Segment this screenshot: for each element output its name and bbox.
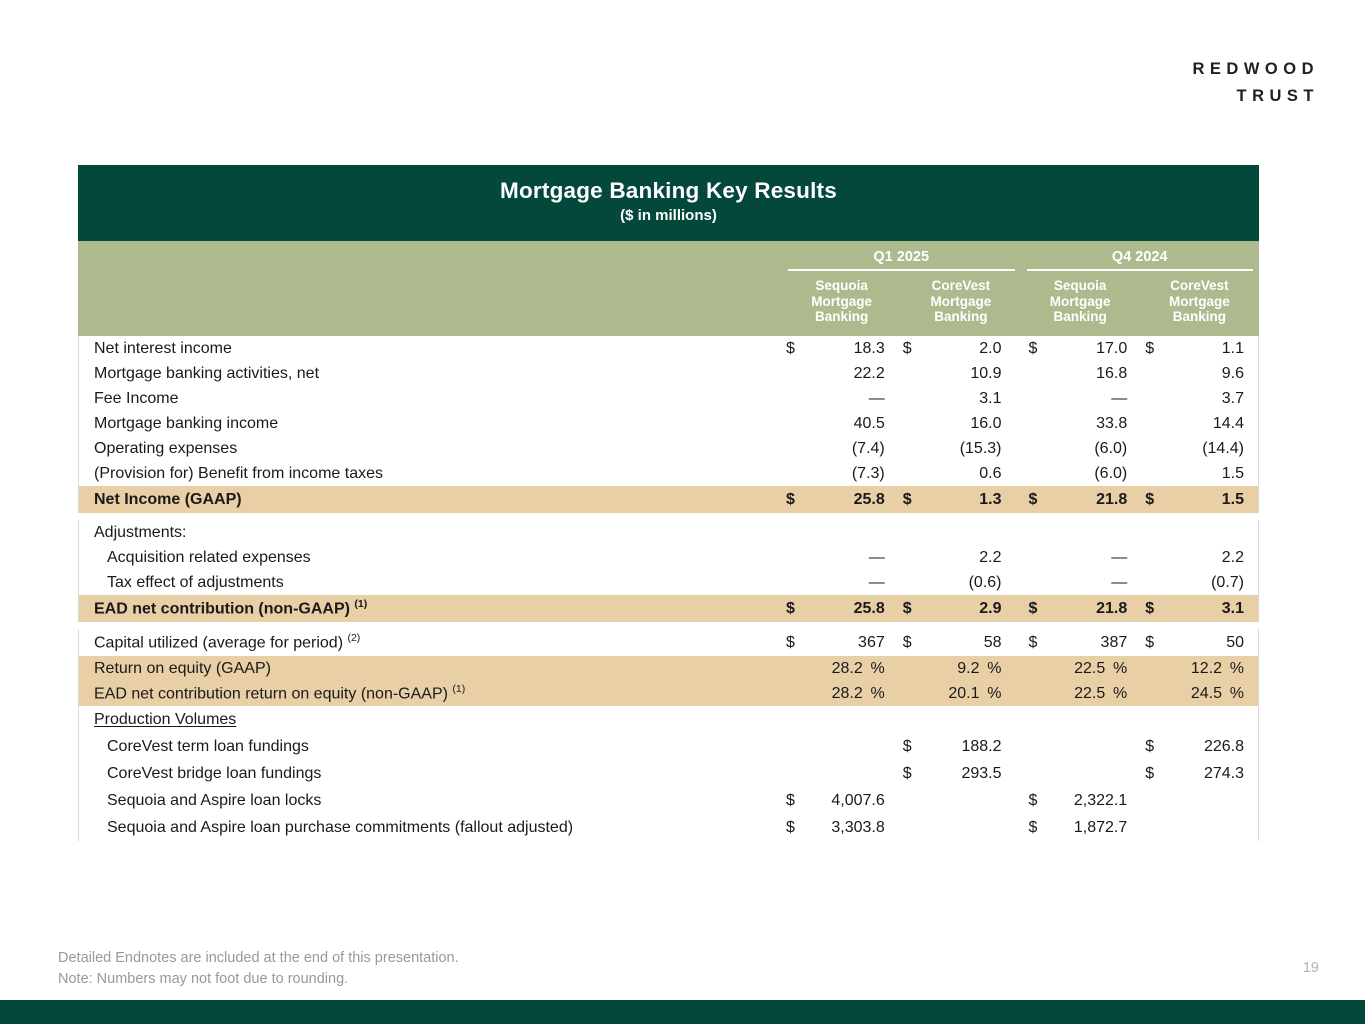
cell-q1-sequoia: $4,007.6	[782, 787, 899, 814]
table-row-capital-utilized: Capital utilized (average for period) (2…	[79, 629, 1258, 656]
cell-q4-sequoia	[1025, 760, 1142, 787]
mortgage-banking-table: Mortgage Banking Key Results ($ in milli…	[78, 165, 1259, 841]
income-statement-block: Net interest income $18.3 $2.0 $17.0 $1.…	[78, 336, 1259, 513]
cell-q4-corevest: $1.1	[1141, 336, 1258, 361]
table-header-band: Q1 2025 Sequoia Mortgage Banking CoreVes…	[78, 241, 1259, 336]
row-label: Mortgage banking activities, net	[79, 365, 782, 383]
cell-q1-corevest	[899, 787, 1016, 814]
cell-q1-corevest: $58	[899, 629, 1016, 656]
table-subtitle: ($ in millions)	[78, 205, 1259, 227]
table-row: Acquisition related expenses — 2.2 — 2.2	[79, 545, 1258, 570]
cell-q4-sequoia: (6.0)	[1025, 461, 1142, 486]
table-row: CoreVest bridge loan fundings $293.5 $27…	[79, 760, 1258, 787]
footnote-rounding: Note: Numbers may not foot due to roundi…	[58, 969, 459, 990]
adjustments-header-row: Adjustments:	[79, 520, 1258, 545]
cell-q1-sequoia: $18.3	[782, 336, 899, 361]
row-label: CoreVest term loan fundings	[79, 738, 782, 756]
cell-q1-sequoia: (7.3)	[782, 461, 899, 486]
cell-q4-corevest: 24.5%	[1141, 681, 1258, 706]
cell-q1-corevest: 10.9	[899, 361, 1016, 386]
cell-q4-corevest: $1.5	[1141, 486, 1258, 513]
cell-q4-sequoia: $387	[1025, 629, 1142, 656]
cell-q1-sequoia: $367	[782, 629, 899, 656]
row-label: Mortgage banking income	[79, 415, 782, 433]
cell-q4-corevest: $274.3	[1141, 760, 1258, 787]
header-col-q1-corevest: CoreVest Mortgage Banking	[901, 278, 1020, 336]
cell-q1-corevest: 9.2%	[899, 656, 1016, 681]
cell-q4-sequoia: 33.8	[1025, 411, 1142, 436]
footnote-marker: (2)	[347, 632, 360, 644]
cell-q4-corevest	[1141, 814, 1258, 841]
cell-q4-sequoia: —	[1025, 386, 1142, 411]
cell-q1-sequoia: $25.8	[782, 595, 899, 622]
production-volumes-header-row: Production Volumes	[79, 706, 1258, 733]
header-col-q1-sequoia: Sequoia Mortgage Banking	[782, 278, 901, 336]
adjustments-block: Adjustments: Acquisition related expense…	[78, 520, 1259, 622]
cell-q1-sequoia: $3,303.8	[782, 814, 899, 841]
cell-q4-sequoia: (6.0)	[1025, 436, 1142, 461]
table-row-net-income: Net Income (GAAP) $25.8 $1.3 $21.8 $1.5	[79, 486, 1258, 513]
cell-q1-sequoia: 28.2%	[782, 656, 899, 681]
row-label: Tax effect of adjustments	[79, 574, 782, 592]
cell-q1-corevest: $1.3	[899, 486, 1016, 513]
row-label: EAD net contribution (non-GAAP) (1)	[79, 598, 782, 618]
cell-q4-sequoia: 22.5%	[1025, 681, 1142, 706]
table-row: Sequoia and Aspire loan purchase commitm…	[79, 814, 1258, 841]
brand-logo-line1: REDWOOD	[1193, 56, 1320, 83]
capital-roe-block: Capital utilized (average for period) (2…	[78, 629, 1259, 841]
cell-q1-sequoia	[782, 733, 899, 760]
cell-q1-sequoia: (7.4)	[782, 436, 899, 461]
cell-q4-sequoia: $21.8	[1025, 595, 1142, 622]
cell-q4-corevest: 1.5	[1141, 461, 1258, 486]
row-label: Net Income (GAAP)	[79, 491, 782, 509]
cell-q1-corevest: 2.2	[899, 545, 1016, 570]
cell-q4-corevest: $3.1	[1141, 595, 1258, 622]
cell-q1-sequoia: 22.2	[782, 361, 899, 386]
row-label: Sequoia and Aspire loan purchase commitm…	[79, 819, 782, 837]
row-label: Net interest income	[79, 340, 782, 358]
cell-q4-corevest: 12.2%	[1141, 656, 1258, 681]
cell-q4-sequoia: —	[1025, 570, 1142, 595]
cell-q1-corevest: $188.2	[899, 733, 1016, 760]
table-title: Mortgage Banking Key Results	[78, 177, 1259, 205]
cell-q4-corevest	[1141, 787, 1258, 814]
table-row: Net interest income $18.3 $2.0 $17.0 $1.…	[79, 336, 1258, 361]
header-group-q4-2024: Q4 2024 Sequoia Mortgage Banking CoreVes…	[1021, 241, 1260, 336]
row-label: Fee Income	[79, 390, 782, 408]
cell-q4-sequoia: $2,322.1	[1025, 787, 1142, 814]
cell-q1-sequoia: —	[782, 570, 899, 595]
footnote-marker: (1)	[452, 683, 465, 695]
cell-q4-corevest: $226.8	[1141, 733, 1258, 760]
cell-q1-corevest: $2.9	[899, 595, 1016, 622]
cell-q1-sequoia: —	[782, 386, 899, 411]
table-title-bar: Mortgage Banking Key Results ($ in milli…	[78, 165, 1259, 241]
cell-q4-corevest: 2.2	[1141, 545, 1258, 570]
cell-q1-sequoia	[782, 760, 899, 787]
cell-q4-corevest: 14.4	[1141, 411, 1258, 436]
cell-q4-sequoia: —	[1025, 545, 1142, 570]
cell-q4-corevest: $50	[1141, 629, 1258, 656]
row-label: Adjustments:	[79, 524, 782, 542]
cell-q4-sequoia: $1,872.7	[1025, 814, 1142, 841]
cell-q4-corevest: 9.6	[1141, 361, 1258, 386]
cell-q1-corevest: 16.0	[899, 411, 1016, 436]
row-label: Capital utilized (average for period) (2…	[79, 632, 782, 652]
footnote-marker: (1)	[354, 598, 367, 610]
cell-q1-corevest: $293.5	[899, 760, 1016, 787]
brand-logo: REDWOOD TRUST	[1193, 56, 1320, 110]
cell-q1-sequoia: $25.8	[782, 486, 899, 513]
cell-q4-sequoia: 22.5%	[1025, 656, 1142, 681]
cell-q1-corevest: 20.1%	[899, 681, 1016, 706]
brand-logo-line2: TRUST	[1193, 83, 1320, 110]
table-row: (Provision for) Benefit from income taxe…	[79, 461, 1258, 486]
cell-q1-corevest: 0.6	[899, 461, 1016, 486]
table-row: Sequoia and Aspire loan locks $4,007.6 $…	[79, 787, 1258, 814]
production-volumes-title: Production Volumes	[94, 711, 236, 728]
page-number: 19	[1303, 960, 1319, 976]
row-label: (Provision for) Benefit from income taxe…	[79, 465, 782, 483]
table-row: Mortgage banking income 40.5 16.0 33.8 1…	[79, 411, 1258, 436]
cell-q4-corevest: 3.7	[1141, 386, 1258, 411]
cell-q4-sequoia	[1025, 733, 1142, 760]
row-label: Sequoia and Aspire loan locks	[79, 792, 782, 810]
table-row: Operating expenses (7.4) (15.3) (6.0) (1…	[79, 436, 1258, 461]
table-row: Mortgage banking activities, net 22.2 10…	[79, 361, 1258, 386]
table-row: Tax effect of adjustments — (0.6) — (0.7…	[79, 570, 1258, 595]
slide-footnotes: Detailed Endnotes are included at the en…	[58, 948, 459, 990]
cell-q4-corevest: (14.4)	[1141, 436, 1258, 461]
cell-q1-sequoia: 40.5	[782, 411, 899, 436]
header-col-q4-corevest: CoreVest Mortgage Banking	[1140, 278, 1259, 336]
table-row-roe-ead: EAD net contribution return on equity (n…	[79, 681, 1258, 706]
header-col-q4-sequoia: Sequoia Mortgage Banking	[1021, 278, 1140, 336]
row-label: Return on equity (GAAP)	[79, 660, 782, 678]
header-spacer	[78, 241, 782, 336]
header-group-q1-2025: Q1 2025 Sequoia Mortgage Banking CoreVes…	[782, 241, 1021, 336]
bottom-accent-bar	[0, 1000, 1365, 1024]
table-row: CoreVest term loan fundings $188.2 $226.…	[79, 733, 1258, 760]
header-quarter-label-q4: Q4 2024	[1027, 241, 1254, 271]
cell-q1-corevest: 3.1	[899, 386, 1016, 411]
cell-q1-corevest: (0.6)	[899, 570, 1016, 595]
cell-q1-sequoia: —	[782, 545, 899, 570]
cell-q4-sequoia: 16.8	[1025, 361, 1142, 386]
header-quarter-label-q1: Q1 2025	[788, 241, 1015, 271]
row-label: Operating expenses	[79, 440, 782, 458]
cell-q4-corevest: (0.7)	[1141, 570, 1258, 595]
table-row-roe-gaap: Return on equity (GAAP) 28.2% 9.2% 22.5%…	[79, 656, 1258, 681]
cell-q4-sequoia: $21.8	[1025, 486, 1142, 513]
row-label: Acquisition related expenses	[79, 549, 782, 567]
table-row: Fee Income — 3.1 — 3.7	[79, 386, 1258, 411]
row-label: EAD net contribution return on equity (n…	[79, 683, 782, 703]
cell-q4-sequoia: $17.0	[1025, 336, 1142, 361]
table-row-ead-net-contribution: EAD net contribution (non-GAAP) (1) $25.…	[79, 595, 1258, 622]
footnote-endnotes: Detailed Endnotes are included at the en…	[58, 948, 459, 969]
cell-q1-corevest: (15.3)	[899, 436, 1016, 461]
row-label: CoreVest bridge loan fundings	[79, 765, 782, 783]
header-quarter-groups: Q1 2025 Sequoia Mortgage Banking CoreVes…	[782, 241, 1259, 336]
row-label: Production Volumes	[79, 711, 782, 729]
cell-q1-sequoia: 28.2%	[782, 681, 899, 706]
cell-q1-corevest	[899, 814, 1016, 841]
cell-q1-corevest: $2.0	[899, 336, 1016, 361]
